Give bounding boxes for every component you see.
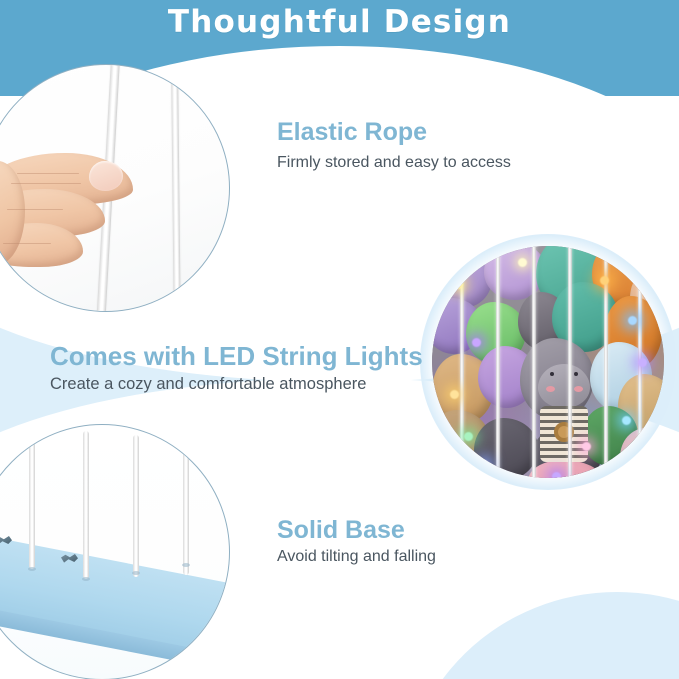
plush-toy [620,428,664,478]
led-light [552,472,561,478]
post-foot [132,571,140,575]
led-light [472,338,481,347]
support-post [133,435,139,577]
plush-toys-photo [432,246,664,478]
storage-rope [532,246,536,478]
hand-graphic [0,151,145,281]
infographic-page: Thoughtful Design Elastic Rope Firmly st… [0,0,679,679]
led-light [454,280,463,289]
led-light [518,258,527,267]
knuckle-line [7,209,63,210]
storage-rope [496,246,500,478]
plush-toy-eye [574,372,578,376]
plush-toy-cheek [574,386,583,392]
post-foot [28,567,36,571]
led-light [600,276,609,285]
led-light [628,316,637,325]
background-bottom-hill [402,592,679,679]
support-post [83,431,89,579]
feature-subtitle: Firmly stored and easy to access [277,153,511,174]
storage-rope [568,246,572,478]
support-post [183,439,189,575]
feature-title: Elastic Rope [277,118,511,147]
knuckle-line [11,183,81,184]
plush-toy-eye [550,372,554,376]
led-light [638,358,647,367]
feature-subtitle: Avoid tilting and falling [277,547,436,568]
knuckle-line [17,173,79,174]
post-foot [82,577,90,581]
feature-title: Comes with LED String Lights [50,342,423,372]
elastic-rope-strand [171,64,181,312]
knuckle-line [3,243,51,244]
feature-subtitle: Create a cozy and comfortable atmosphere [50,374,423,395]
fingernail [89,161,123,191]
feature-text-elastic-rope: Elastic Rope Firmly stored and easy to a… [277,118,511,173]
page-title: Thoughtful Design [0,4,679,40]
support-post [29,437,35,569]
led-light [582,442,591,451]
post-foot [182,563,190,567]
led-light [464,432,473,441]
led-light [480,460,489,469]
led-light [622,416,631,425]
feature-text-solid-base: Solid Base Avoid tilting and falling [277,516,436,567]
feature-title: Solid Base [277,516,436,545]
led-light [450,390,459,399]
plush-toy-cheek [546,386,555,392]
plush-toy [474,418,538,478]
plush-toy-face [538,364,590,408]
feature-text-led-lights: Comes with LED String Lights Create a co… [50,342,423,395]
